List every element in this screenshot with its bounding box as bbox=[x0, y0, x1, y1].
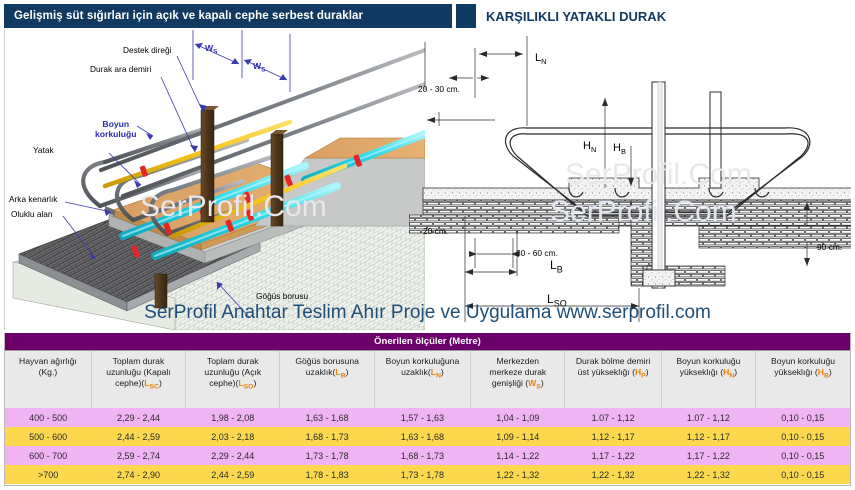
table-cell-weight: 400 - 500 bbox=[5, 408, 91, 427]
table-cell-value: 1,22 - 1,32 bbox=[565, 465, 661, 484]
table-cell-value: 2,29 - 2,44 bbox=[186, 446, 280, 465]
table-cell-value: 1,04 - 1,09 bbox=[471, 408, 565, 427]
dimension-hn: HN bbox=[583, 140, 596, 154]
label-support-post: Destek direği bbox=[123, 46, 171, 56]
dimension-lb: LB bbox=[550, 258, 563, 274]
table-cell-weight: 600 - 700 bbox=[5, 446, 91, 465]
diagram-area: SerProfil.Com SerProfil.Com SerProfil.Co… bbox=[4, 30, 851, 330]
cross-section-drawing bbox=[409, 30, 851, 330]
table-cell-value: 1,68 - 1,73 bbox=[280, 427, 374, 446]
dimension-ws-1: WS bbox=[205, 44, 217, 56]
isometric-freestall-drawing bbox=[5, 30, 425, 330]
table-cell-value: 2,29 - 2,44 bbox=[91, 408, 185, 427]
dimension-ws-2: WS bbox=[253, 62, 265, 74]
table-col-header-7: Boyun korkuluğuyükseklığı (HN) bbox=[661, 351, 755, 408]
table-cell-value: 0,10 - 0,15 bbox=[756, 408, 850, 427]
table-cell-value: 1,12 - 1,17 bbox=[565, 427, 661, 446]
table-cell-value: 1,22 - 1,32 bbox=[471, 465, 565, 484]
table-cell-value: 1,12 - 1,17 bbox=[661, 427, 755, 446]
table-cell-value: 1,14 - 1,22 bbox=[471, 446, 565, 465]
label-neck-rail: Boyunkorkuluğu bbox=[95, 120, 137, 140]
table-col-header-3: Göğüs borusunauzaklık(LB) bbox=[280, 351, 374, 408]
dimension-depth-90: 90 cm. bbox=[817, 242, 842, 252]
table-body: 400 - 5002,29 - 2,441,98 - 2,081,63 - 1,… bbox=[5, 408, 850, 484]
brand-tagline-text: SerProfil Anahtar Teslim Ahır Proje ve U… bbox=[144, 302, 711, 324]
table-cell-value: 2,74 - 2,90 bbox=[91, 465, 185, 484]
header-right-title: KARŞILIKLI YATAKLI DURAK bbox=[476, 9, 666, 24]
table-cell-value: 1,63 - 1,68 bbox=[280, 408, 374, 427]
table-cell-value: 1,78 - 1,83 bbox=[280, 465, 374, 484]
table-row: >7002,74 - 2,902,44 - 2,591,78 - 1,831,7… bbox=[5, 465, 850, 484]
table-cell-value: 2,44 - 2,59 bbox=[91, 427, 185, 446]
dimension-ln: LN bbox=[535, 52, 547, 66]
page-root: Gelişmiş süt sığırları için açık ve kapa… bbox=[0, 0, 855, 490]
table-col-header-4: Boyun korkuluğunauzaklık(LN) bbox=[374, 351, 470, 408]
table-cell-value: 1,17 - 1,22 bbox=[661, 446, 755, 465]
table-cell-value: 2,59 - 2,74 bbox=[91, 446, 185, 465]
table-cell-value: 1,22 - 1,32 bbox=[661, 465, 755, 484]
table-cell-value: 0,10 - 0,15 bbox=[756, 427, 850, 446]
header-right-banner: KARŞILIKLI YATAKLI DURAK bbox=[476, 4, 851, 28]
table-col-header-8: Boyun korkuluğuyükseklığı (HB) bbox=[756, 351, 850, 408]
table-cell-value: 1,73 - 1,78 bbox=[374, 465, 470, 484]
header-left-banner: Gelişmiş süt sığırları için açık ve kapa… bbox=[4, 4, 452, 28]
table-col-header-0: Hayvan ağırlığı(Kg.) bbox=[5, 351, 91, 408]
table-cell-value: 1.07 - 1,12 bbox=[565, 408, 661, 427]
table-row: 500 - 6002,44 - 2,592,03 - 2,181,68 - 1,… bbox=[5, 427, 850, 446]
label-bed: Yatak bbox=[33, 146, 54, 156]
table-cell-weight: >700 bbox=[5, 465, 91, 484]
measurements-table: Hayvan ağırlığı(Kg.)Toplam durakuzunluğu… bbox=[5, 351, 850, 484]
table-band-title: Önerilen ölçüler (Metre) bbox=[5, 333, 850, 351]
table-col-header-2: Toplam durakuzunluğu (Açıkcephe)(LSO) bbox=[186, 351, 280, 408]
table-cell-value: 1,98 - 2,08 bbox=[186, 408, 280, 427]
table-col-header-6: Durak bölme demiriüst yükseklığı (HP) bbox=[565, 351, 661, 408]
table-row: 400 - 5002,29 - 2,441,98 - 2,081,63 - 1,… bbox=[5, 408, 850, 427]
table-cell-weight: 500 - 600 bbox=[5, 427, 91, 446]
table-col-header-1: Toplam durakuzunluğu (Kapalıcephe)(LSC) bbox=[91, 351, 185, 408]
table-cell-value: 0,10 - 0,15 bbox=[756, 446, 850, 465]
label-grooved-area: Oluklu alan bbox=[11, 210, 53, 220]
table-cell-value: 0,10 - 0,15 bbox=[756, 465, 850, 484]
table-row: 600 - 7002,59 - 2,742,29 - 2,441,73 - 1,… bbox=[5, 446, 850, 465]
label-rear-curb: Arka kenarlık bbox=[9, 195, 57, 205]
table-header-row: Hayvan ağırlığı(Kg.)Toplam durakuzunluğu… bbox=[5, 351, 850, 408]
table-cell-value: 1,57 - 1,63 bbox=[374, 408, 470, 427]
dimension-curb-20: 20 cm. bbox=[423, 226, 448, 236]
dimension-offset-20-30: 20 - 30 cm. bbox=[418, 84, 460, 94]
table-band-label: Önerilen ölçüler (Metre) bbox=[374, 336, 481, 347]
table-col-header-5: Merkezdenmerkeze durakgenişliği (WS) bbox=[471, 351, 565, 408]
dimension-hb: HB bbox=[613, 142, 626, 156]
brand-tagline: SerProfil Anahtar Teslim Ahır Proje ve U… bbox=[0, 297, 855, 329]
table-cell-value: 2,44 - 2,59 bbox=[186, 465, 280, 484]
table-cell-value: 1,68 - 1,73 bbox=[374, 446, 470, 465]
label-stall-divider-bar: Durak ara demiri bbox=[90, 65, 151, 75]
dimension-alley-30-60: 30 - 60 cm. bbox=[516, 248, 558, 258]
table-cell-value: 1.07 - 1,12 bbox=[661, 408, 755, 427]
table-cell-value: 2,03 - 2,18 bbox=[186, 427, 280, 446]
table-cell-value: 1,73 - 1,78 bbox=[280, 446, 374, 465]
header-left-title: Gelişmiş süt sığırları için açık ve kapa… bbox=[4, 10, 363, 22]
measurements-table-wrapper: Önerilen ölçüler (Metre) Hayvan ağırlığı… bbox=[4, 333, 851, 486]
table-cell-value: 1,09 - 1,14 bbox=[471, 427, 565, 446]
table-cell-value: 1,17 - 1,22 bbox=[565, 446, 661, 465]
table-cell-value: 1,63 - 1,68 bbox=[374, 427, 470, 446]
